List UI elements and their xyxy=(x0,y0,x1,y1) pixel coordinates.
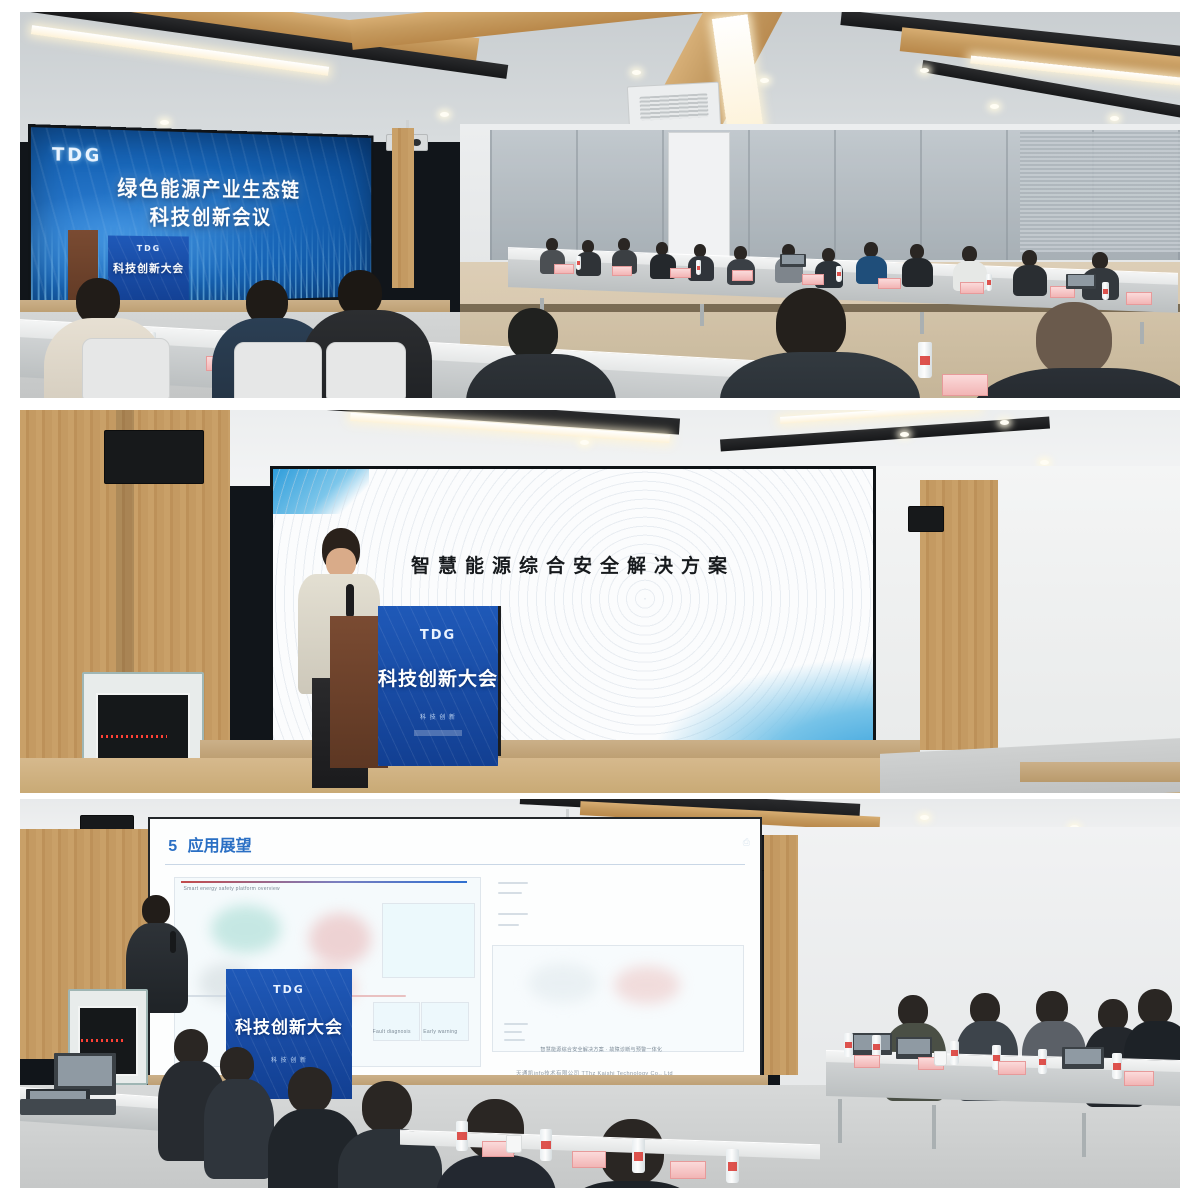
name-placard xyxy=(612,266,632,276)
downlight xyxy=(1040,460,1049,465)
slide-heading: 5 应用展望 xyxy=(168,832,251,856)
slide-gradient-rule xyxy=(181,881,468,883)
laptop xyxy=(896,1037,932,1059)
slide-tag-card xyxy=(373,1002,421,1041)
name-placard xyxy=(670,1161,706,1179)
name-placard xyxy=(960,282,984,294)
table-leg xyxy=(700,304,704,326)
downlight xyxy=(920,815,929,820)
podium-accent-bar xyxy=(414,730,462,736)
tdg-logo: TDG xyxy=(52,144,102,167)
slide-sub-card xyxy=(382,903,476,978)
podium-subtitle: 科 技 创 新 xyxy=(378,712,498,721)
downlight xyxy=(580,440,589,445)
stage-step xyxy=(1020,762,1180,782)
laptop xyxy=(780,254,806,267)
led-wall-title: 绿色能源产业生态链 科技创新会议 xyxy=(31,173,371,233)
podium-banner: TDG 科技创新大会 科 技 创 新 xyxy=(378,606,498,766)
paper-cup xyxy=(934,1051,947,1066)
rack-status-leds xyxy=(81,1039,124,1042)
slide-blob xyxy=(309,913,371,965)
podium-title: 科技创新大会 xyxy=(226,1013,352,1038)
name-placard xyxy=(802,274,824,285)
water-bottle xyxy=(836,266,842,282)
podium-title: 科技创新大会 xyxy=(378,664,498,691)
downlight xyxy=(1000,420,1009,425)
water-bottle xyxy=(950,1041,959,1065)
name-placard xyxy=(998,1061,1026,1075)
slide-divider xyxy=(165,864,745,865)
chair xyxy=(82,338,170,398)
tdg-logo: TDG xyxy=(378,628,498,643)
slide-section-title: 应用展望 xyxy=(188,838,252,855)
downlight xyxy=(440,112,449,117)
table-leg xyxy=(1082,1113,1086,1157)
right-wood-column xyxy=(764,835,798,1075)
audio-mixer xyxy=(20,1099,116,1115)
name-placard xyxy=(1126,292,1152,305)
water-bottle xyxy=(632,1139,645,1173)
tdg-logo: TDG xyxy=(226,983,352,996)
downlight xyxy=(920,68,929,73)
handheld-microphone xyxy=(346,584,354,618)
slide-label-left: Fault diagnosis xyxy=(373,1029,411,1035)
water-bottle xyxy=(696,260,701,275)
slide-tag-card xyxy=(421,1002,469,1041)
chair xyxy=(234,342,322,398)
downlight xyxy=(990,104,999,109)
paper-cup xyxy=(506,1135,522,1153)
table-leg xyxy=(1140,322,1144,344)
tdg-logo: TDG xyxy=(108,244,189,254)
laptop xyxy=(1062,1047,1104,1069)
downlight xyxy=(632,70,641,75)
slide-section-number: 5 xyxy=(168,838,177,855)
name-placard xyxy=(554,264,574,274)
wall-speaker xyxy=(104,430,204,484)
downlight xyxy=(900,432,909,437)
name-placard xyxy=(1124,1071,1154,1086)
table-leg xyxy=(838,1099,842,1143)
water-bottle xyxy=(918,342,932,378)
podium-banner: TDG 科技创新大会 xyxy=(108,235,189,306)
name-placard xyxy=(942,374,988,396)
led-title-line-2: 科技创新会议 xyxy=(31,203,371,233)
water-bottle xyxy=(1102,282,1109,300)
name-placard xyxy=(878,278,901,289)
window-blind xyxy=(1020,132,1180,252)
slide-blob xyxy=(614,966,680,1004)
led-title-line-1: 绿色能源产业生态链 xyxy=(31,173,371,205)
table-leg xyxy=(932,1105,936,1149)
panel-technical-presentation: 5 应用展望 ⎙ Smart energy safety platform ov… xyxy=(20,799,1180,1188)
handheld-microphone xyxy=(170,931,176,953)
water-bottle xyxy=(844,1033,853,1057)
name-placard xyxy=(854,1055,880,1068)
table-leg xyxy=(920,312,924,334)
wall-speaker xyxy=(908,506,944,532)
name-placard xyxy=(732,270,753,281)
panel-keynote-speaker: 智慧能源综合安全解决方案 TDG 科技创新大会 科 技 创 新 xyxy=(20,410,1180,793)
slide-watermark-icon: ⎙ xyxy=(743,837,750,848)
laptop xyxy=(1066,274,1096,289)
water-bottle xyxy=(726,1149,739,1183)
water-bottle xyxy=(1038,1049,1047,1074)
slide-label-right: Early warning xyxy=(423,1029,457,1035)
water-bottle xyxy=(576,256,581,270)
water-bottle xyxy=(540,1129,552,1161)
water-bottle xyxy=(986,274,992,291)
glass-door xyxy=(668,132,730,262)
podium-title: 科技创新大会 xyxy=(108,260,189,276)
panel-opening-session: TDG 绿色能源产业生态链 科技创新会议 TDG 科技创新大会 xyxy=(20,12,1180,398)
slide-right-card xyxy=(492,945,744,1052)
name-placard xyxy=(670,268,691,278)
water-bottle xyxy=(1112,1053,1122,1079)
wood-column xyxy=(392,128,414,288)
downlight xyxy=(1110,116,1119,121)
rack-status-leds xyxy=(101,735,167,738)
name-placard xyxy=(572,1151,606,1168)
water-bottle xyxy=(456,1121,468,1151)
downlight xyxy=(760,78,769,83)
microphone-cable xyxy=(498,606,501,756)
downlight xyxy=(160,120,169,125)
photo-collage: TDG 绿色能源产业生态链 科技创新会议 TDG 科技创新大会 xyxy=(0,0,1200,1200)
slide-blob xyxy=(528,963,598,1003)
chair xyxy=(326,342,406,398)
